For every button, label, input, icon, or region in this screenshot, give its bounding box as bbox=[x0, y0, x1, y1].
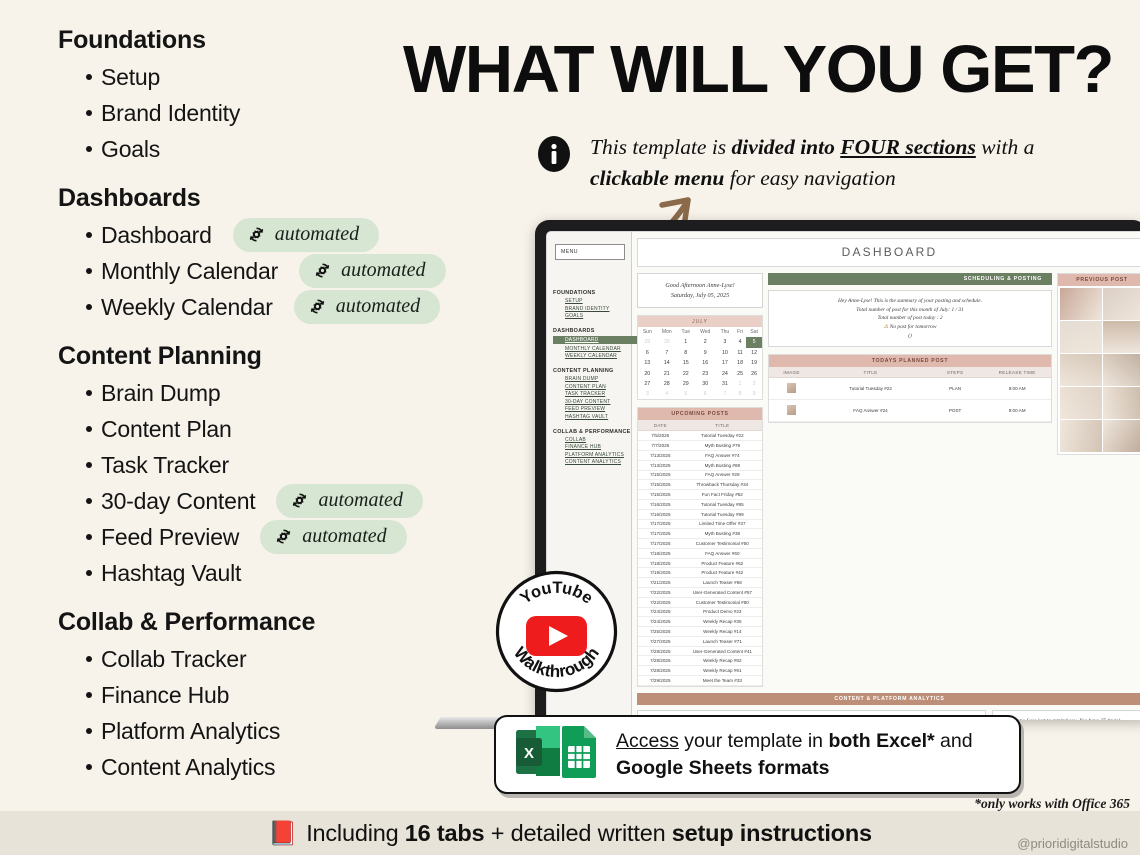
footer-text: 📕 Including 16 tabs + detailed written s… bbox=[268, 819, 872, 847]
column-header: RELEASE TIME bbox=[983, 367, 1051, 378]
calendar-day[interactable]: 31 bbox=[716, 379, 734, 389]
office-note: *only works with Office 365 bbox=[974, 796, 1130, 812]
summary-line3: Total number of post today : 2 bbox=[877, 315, 942, 321]
feature-item-label: Platform Analytics bbox=[101, 718, 280, 745]
greeting-line1: Good Afternoon Anne-Lyse! bbox=[665, 282, 734, 289]
feature-item-label: Weekly Calendar bbox=[101, 294, 273, 321]
nav-item[interactable]: TASK TRACKER bbox=[565, 391, 631, 397]
bullet-dot bbox=[86, 268, 92, 274]
scheduling-summary: Hey Anne-Lyse! This is the summary of yo… bbox=[768, 290, 1052, 347]
spreadsheet-main: DASHBOARD Good Afternoon Anne-Lyse! Satu… bbox=[632, 232, 1140, 720]
calendar-day[interactable]: 30 bbox=[657, 337, 677, 347]
calendar-day[interactable]: 12 bbox=[746, 348, 762, 358]
spreadsheet: MENU FOUNDATIONSSETUPBRAND IDENTITYGOALS… bbox=[547, 232, 1140, 720]
calendar-week: 272829303112 bbox=[638, 379, 762, 389]
table-cell: 7/15/2025 bbox=[638, 490, 683, 500]
table-row: 7/13/2025Myth Busting #89 bbox=[638, 460, 762, 470]
table-cell: Customer Testimonial #80 bbox=[683, 597, 762, 607]
feature-item: 30-day Contentautomated bbox=[86, 483, 528, 519]
table-cell: FAQ Answer #29 bbox=[683, 470, 762, 480]
nav-item[interactable]: CONTENT PLAN bbox=[565, 384, 631, 390]
feature-item: Monthly Calendarautomated bbox=[86, 253, 528, 289]
table-cell: Weekly Recap #82 bbox=[683, 656, 762, 666]
bullet-dot bbox=[86, 304, 92, 310]
footer-bold1: 16 tabs bbox=[405, 820, 485, 846]
table-cell: FAQ Answer #74 bbox=[683, 451, 762, 461]
calendar-day[interactable]: 14 bbox=[657, 358, 677, 368]
table-cell: 7/13/2025 bbox=[638, 460, 683, 470]
gear-icon bbox=[308, 297, 327, 316]
features-list: FoundationsSetupBrand IdentityGoalsDashb… bbox=[58, 26, 528, 785]
table-cell: 9:00 AM bbox=[983, 400, 1051, 422]
access-bold1: both Excel* bbox=[828, 730, 934, 752]
table-cell: 8:00 AM bbox=[983, 378, 1051, 400]
column-center: SCHEDULING & POSTING Hey Anne-Lyse! This… bbox=[768, 273, 1052, 687]
calendar-day[interactable]: 4 bbox=[657, 389, 677, 399]
footer-pre: Including bbox=[306, 820, 405, 846]
table-cell: Tutorial Tuesday #99 bbox=[683, 509, 762, 519]
table-row: 7/15/2025Throwback Thursday #34 bbox=[638, 480, 762, 490]
table-cell: 7/13/2025 bbox=[638, 451, 683, 461]
table-cell: Launch Teaser #71 bbox=[683, 636, 762, 646]
upcoming-posts-table: UPCOMING POSTS DATETITLE7/5/2025Tutorial… bbox=[637, 407, 763, 686]
analytics-section-title: CONTENT & PLATFORM ANALYTICS bbox=[637, 693, 1140, 705]
footer-mid: + detailed written bbox=[484, 820, 671, 846]
warning-icon: ⚠ bbox=[884, 324, 889, 330]
table-row: 7/18/2025FAQ Answer #60 bbox=[638, 548, 762, 558]
calendar-day[interactable]: 5 bbox=[746, 337, 762, 347]
info-note: This template is divided into FOUR secti… bbox=[534, 132, 1134, 193]
column-left: Good Afternoon Anne-Lyse! Saturday, July… bbox=[637, 273, 763, 687]
feature-group-title: Collab & Performance bbox=[58, 608, 528, 637]
gear-icon bbox=[290, 491, 309, 510]
footer-bold2: setup instructions bbox=[672, 820, 872, 846]
automated-badge: automated bbox=[233, 218, 379, 252]
table-cell: Tutorial Tuesday #22 bbox=[814, 378, 927, 400]
feature-item: Feed Previewautomated bbox=[86, 519, 528, 555]
table-row: 7/22/2025User-Generated Content #57 bbox=[638, 587, 762, 597]
calendar-day[interactable]: 24 bbox=[716, 368, 734, 378]
feature-item: Dashboardautomated bbox=[86, 217, 528, 253]
calendar-weekday: Sun bbox=[638, 327, 657, 337]
previous-post-thumbnail bbox=[1103, 354, 1140, 386]
feature-item: Goals bbox=[86, 131, 528, 167]
table-cell: Myth Busting #89 bbox=[683, 460, 762, 470]
nav-item[interactable]: CONTENT ANALYTICS bbox=[565, 459, 631, 465]
nav-item[interactable]: 30-DAY CONTENT bbox=[565, 399, 631, 405]
table-cell: Throwback Thursday #34 bbox=[683, 480, 762, 490]
nav-section-header: COLLAB & PERFORMANCE bbox=[553, 429, 631, 435]
table-cell: 7/5/2025 bbox=[638, 431, 683, 441]
feature-item-label: Monthly Calendar bbox=[101, 258, 278, 285]
calendar-day[interactable]: 29 bbox=[677, 379, 695, 389]
previous-posts-panel: PREVIOUS POST bbox=[1057, 273, 1140, 455]
nav-item[interactable]: BRAND IDENTITY bbox=[565, 306, 631, 312]
access-rest: your template in bbox=[679, 730, 829, 752]
feature-item: Collab Tracker bbox=[86, 641, 528, 677]
feature-item-label: Content Analytics bbox=[101, 754, 275, 781]
table-cell: 7/25/2025 bbox=[638, 627, 683, 637]
studio-handle: @prioridigitalstudio bbox=[1017, 836, 1128, 851]
calendar-day[interactable]: 11 bbox=[734, 348, 746, 358]
table-row: 7/15/2025Fun Fact Friday #52 bbox=[638, 490, 762, 500]
table-cell: FAQ Answer #24 bbox=[814, 400, 927, 422]
table-cell: 7/7/2025 bbox=[638, 441, 683, 451]
table-row: 7/19/2025Product Feature #42 bbox=[638, 568, 762, 578]
scheduling-section-title: SCHEDULING & POSTING bbox=[768, 273, 1052, 285]
automated-badge-label: automated bbox=[336, 295, 420, 318]
automated-badge-label: automated bbox=[302, 525, 386, 548]
table-row: 7/29/2025Meet the Team #33 bbox=[638, 676, 762, 686]
table-row: 7/28/2025Weekly Recap #91 bbox=[638, 666, 762, 676]
table-row: 7/17/2025Limited Time Offer #37 bbox=[638, 519, 762, 529]
table-cell: 7/17/2025 bbox=[638, 519, 683, 529]
table-cell: Product Feature #42 bbox=[683, 568, 762, 578]
feature-item-label: Brand Identity bbox=[101, 100, 240, 127]
calendar-day[interactable]: 6 bbox=[695, 389, 716, 399]
feature-item: Finance Hub bbox=[86, 677, 528, 713]
feature-group: DashboardsDashboardautomatedMonthly Cale… bbox=[58, 184, 528, 325]
calendar-day[interactable]: 6 bbox=[638, 348, 657, 358]
calendar-day[interactable]: 28 bbox=[657, 379, 677, 389]
calendar-day[interactable]: 1 bbox=[734, 379, 746, 389]
calendar-weekday: Mon bbox=[657, 327, 677, 337]
greeting-line2: Saturday, July 05, 2025 bbox=[671, 292, 729, 299]
calendar-day[interactable]: 8 bbox=[677, 348, 695, 358]
table-cell: 7/16/2025 bbox=[638, 509, 683, 519]
table-row: 7/24/2025Weekly Recap #35 bbox=[638, 617, 762, 627]
column-header: TITLE bbox=[683, 420, 762, 431]
table-row: 7/16/2025Tutorial Tuesday #99 bbox=[638, 509, 762, 519]
feature-item-label: Feed Preview bbox=[101, 524, 239, 551]
calendar-day[interactable]: 13 bbox=[638, 358, 657, 368]
table-cell bbox=[769, 400, 814, 422]
previous-posts-title: PREVIOUS POST bbox=[1058, 274, 1140, 286]
table-cell: 7/21/2025 bbox=[638, 578, 683, 588]
feature-item-label: Finance Hub bbox=[101, 682, 229, 709]
calendar-weekday: Tue bbox=[677, 327, 695, 337]
page-title: WHAT WILL YOU GET? bbox=[384, 36, 1132, 103]
calendar-weekday: Fri bbox=[734, 327, 746, 337]
calendar-day[interactable]: 19 bbox=[746, 358, 762, 368]
bullet-dot bbox=[86, 110, 92, 116]
table-cell: 7/19/2025 bbox=[638, 568, 683, 578]
automated-badge: automated bbox=[260, 520, 406, 554]
table-cell: 7/28/2025 bbox=[638, 646, 683, 656]
table-cell: Tutorial Tuesday #85 bbox=[683, 499, 762, 509]
calendar-day[interactable]: 20 bbox=[638, 368, 657, 378]
table-cell: Weekly Recap #35 bbox=[683, 617, 762, 627]
feature-item-label: Brain Dump bbox=[101, 380, 220, 407]
nav-item[interactable]: HASHTAG VAULT bbox=[565, 414, 631, 420]
previous-post-thumbnail bbox=[1060, 420, 1102, 452]
calendar-day[interactable]: 8 bbox=[734, 389, 746, 399]
calendar-day[interactable]: 16 bbox=[695, 358, 716, 368]
excel-sheets-icons: X bbox=[514, 724, 600, 785]
feature-item-label: Setup bbox=[101, 64, 160, 91]
calendar-day[interactable]: 2 bbox=[695, 337, 716, 347]
calendar-day[interactable]: 2 bbox=[746, 379, 762, 389]
laptop-screen: MENU FOUNDATIONSSETUPBRAND IDENTITYGOALS… bbox=[546, 231, 1140, 720]
feature-item-label: 30-day Content bbox=[101, 488, 255, 515]
laptop-lid: MENU FOUNDATIONSSETUPBRAND IDENTITYGOALS… bbox=[535, 220, 1140, 720]
nav-item[interactable]: PLATFORM ANALYTICS bbox=[565, 452, 631, 458]
calendar-day[interactable]: 23 bbox=[695, 368, 716, 378]
gear-icon bbox=[247, 225, 266, 244]
calendar-week: 6789101112 bbox=[638, 348, 762, 358]
youtube-walkthrough-badge[interactable]: YouTube Walkthrough bbox=[493, 568, 620, 695]
calendar-day[interactable]: 21 bbox=[657, 368, 677, 378]
feature-item: Weekly Calendarautomated bbox=[86, 289, 528, 325]
feature-item: Hashtag Vault bbox=[86, 555, 528, 591]
feature-item-label: Task Tracker bbox=[101, 452, 229, 479]
calendar-day[interactable]: 10 bbox=[716, 348, 734, 358]
previous-post-thumbnail bbox=[1060, 387, 1102, 419]
access-text: Access your template in both Excel* and … bbox=[616, 728, 973, 781]
table-row: 7/17/2025Myth Busting #38 bbox=[638, 529, 762, 539]
previous-posts-grid bbox=[1058, 286, 1140, 454]
bullet-dot bbox=[86, 534, 92, 540]
table-row: 7/27/2025Launch Teaser #71 bbox=[638, 636, 762, 646]
thumbnail-image bbox=[787, 405, 796, 415]
automated-badge-label: automated bbox=[275, 223, 359, 246]
feature-group: Collab & PerformanceCollab TrackerFinanc… bbox=[58, 608, 528, 785]
info-circle-icon bbox=[534, 134, 574, 174]
previous-post-thumbnail bbox=[1103, 420, 1140, 452]
info-line1-b: divided into bbox=[732, 135, 841, 159]
previous-post-thumbnail bbox=[1060, 321, 1102, 353]
calendar-day[interactable]: 5 bbox=[677, 389, 695, 399]
calendar-day[interactable]: 9 bbox=[746, 389, 762, 399]
calendar-week: 13141516171819 bbox=[638, 358, 762, 368]
table-cell: User-Generated Content #41 bbox=[683, 646, 762, 656]
table-cell: Myth Busting #79 bbox=[683, 441, 762, 451]
greeting-box: Good Afternoon Anne-Lyse! Saturday, July… bbox=[637, 273, 763, 308]
table-cell: 7/24/2025 bbox=[638, 607, 683, 617]
calendar-day[interactable]: 7 bbox=[716, 389, 734, 399]
calendar-day[interactable]: 17 bbox=[716, 358, 734, 368]
table-row: 7/28/2025Weekly Recap #82 bbox=[638, 656, 762, 666]
table-cell: 7/15/2025 bbox=[638, 470, 683, 480]
bullet-dot bbox=[86, 498, 92, 504]
table-row: 7/18/2025Product Feature #62 bbox=[638, 558, 762, 568]
info-line1-a: This template is bbox=[590, 135, 732, 159]
table-cell: 7/22/2025 bbox=[638, 597, 683, 607]
automated-badge: automated bbox=[294, 290, 440, 324]
calendar-weekday: Sat bbox=[746, 327, 762, 337]
access-callout: X Access your template in both Excel* an… bbox=[494, 715, 1021, 794]
nav-item[interactable]: DASHBOARD bbox=[553, 336, 639, 344]
automated-badge-label: automated bbox=[318, 489, 402, 512]
info-line1-c: FOUR sections bbox=[840, 135, 976, 159]
table-cell: Myth Busting #38 bbox=[683, 529, 762, 539]
reminder-line1: Anne-Lyse just to remind you. You have 2… bbox=[1014, 718, 1121, 720]
nav-item[interactable]: MONTHLY CALENDAR bbox=[565, 346, 631, 352]
table-cell: 7/18/2025 bbox=[638, 558, 683, 568]
bullet-dot bbox=[86, 462, 92, 468]
nav-section-header: DASHBOARDS bbox=[553, 328, 631, 334]
table-cell: 7/15/2025 bbox=[638, 480, 683, 490]
table-cell: Fun Fact Friday #52 bbox=[683, 490, 762, 500]
calendar-weekday: Thu bbox=[716, 327, 734, 337]
feature-group: Content PlanningBrain DumpContent PlanTa… bbox=[58, 342, 528, 591]
bullet-dot bbox=[86, 570, 92, 576]
table-cell: User-Generated Content #57 bbox=[683, 587, 762, 597]
table-cell: Product Feature #62 bbox=[683, 558, 762, 568]
month-calendar: JULY SunMonTueWedThuFriSat 2930123456789… bbox=[637, 315, 763, 400]
calendar-day[interactable]: 27 bbox=[638, 379, 657, 389]
feature-item-label: Goals bbox=[101, 136, 160, 163]
info-line1-d: with a bbox=[976, 135, 1035, 159]
feature-item-label: Content Plan bbox=[101, 416, 232, 443]
table-row: 7/25/2025Weekly Recap #14 bbox=[638, 627, 762, 637]
table-cell: FAQ Answer #60 bbox=[683, 548, 762, 558]
calendar-weekday: Wed bbox=[695, 327, 716, 337]
automated-badge: automated bbox=[299, 254, 445, 288]
info-note-text: This template is divided into FOUR secti… bbox=[590, 132, 1034, 193]
automated-badge: automated bbox=[276, 484, 422, 518]
gear-icon bbox=[313, 261, 332, 280]
table-cell: Customer Testimonial #50 bbox=[683, 539, 762, 549]
upcoming-posts-title: UPCOMING POSTS bbox=[638, 408, 762, 420]
thumbnail-image bbox=[787, 383, 796, 393]
table-cell: 7/28/2025 bbox=[638, 666, 683, 676]
summary-line1: Hey Anne-Lyse! This is the summary of yo… bbox=[838, 298, 982, 304]
calendar-month-label: JULY bbox=[638, 316, 762, 327]
previous-post-thumbnail bbox=[1060, 354, 1102, 386]
table-cell: POST bbox=[927, 400, 983, 422]
access-line2: Google Sheets formats bbox=[616, 757, 829, 779]
info-line2-b: for easy navigation bbox=[724, 166, 895, 190]
table-cell: 7/18/2025 bbox=[638, 548, 683, 558]
access-and: and bbox=[935, 730, 973, 752]
calendar-table: SunMonTueWedThuFriSat 293012345678910111… bbox=[638, 327, 762, 399]
table-row: 7/5/2025Tutorial Tuesday #22 bbox=[638, 431, 762, 441]
summary-line4: No post for tomorrow bbox=[890, 324, 937, 330]
calendar-day[interactable]: 30 bbox=[695, 379, 716, 389]
table-row: Tutorial Tuesday #22PLAN8:00 AM bbox=[769, 378, 1051, 400]
footer-banner: 📕 Including 16 tabs + detailed written s… bbox=[0, 811, 1140, 855]
calendar-day[interactable]: 22 bbox=[677, 368, 695, 378]
table-row: 7/21/2025Launch Teaser #68 bbox=[638, 578, 762, 588]
svg-text:X: X bbox=[524, 745, 534, 762]
calendar-day[interactable]: 26 bbox=[746, 368, 762, 378]
previous-post-thumbnail bbox=[1103, 288, 1140, 320]
feature-item: Task Tracker bbox=[86, 447, 528, 483]
table-cell: Weekly Recap #91 bbox=[683, 666, 762, 676]
nav-item[interactable]: GOALS bbox=[565, 313, 631, 319]
calendar-day[interactable]: 29 bbox=[638, 337, 657, 347]
calendar-week: 3456789 bbox=[638, 389, 762, 399]
notebook-icon: 📕 bbox=[268, 819, 297, 847]
table-row: FAQ Answer #24POST9:00 AM bbox=[769, 400, 1051, 422]
nav-section-header: CONTENT PLANNING bbox=[553, 368, 631, 374]
feature-item-label: Hashtag Vault bbox=[101, 560, 241, 587]
feature-item: Content Plan bbox=[86, 411, 528, 447]
table-cell: 7/24/2025 bbox=[638, 617, 683, 627]
table-row: 7/28/2025User-Generated Content #41 bbox=[638, 646, 762, 656]
nav-item[interactable]: SETUP bbox=[565, 298, 631, 304]
table-cell: 7/29/2025 bbox=[638, 676, 683, 686]
nav-item[interactable]: COLLAB bbox=[565, 437, 631, 443]
nav-item[interactable]: BRAIN DUMP bbox=[565, 376, 631, 382]
table-row: 7/15/2025FAQ Answer #29 bbox=[638, 470, 762, 480]
bullet-dot bbox=[86, 232, 92, 238]
todays-post-title: TODAYS PLANNED POST bbox=[769, 355, 1051, 367]
column-header: STEPS bbox=[927, 367, 983, 378]
summary-line5: () bbox=[908, 333, 912, 339]
feature-item-label: Dashboard bbox=[101, 222, 212, 249]
calendar-day[interactable]: 3 bbox=[638, 389, 657, 399]
table-cell: 7/28/2025 bbox=[638, 656, 683, 666]
calendar-day[interactable]: 7 bbox=[657, 348, 677, 358]
calendar-day[interactable]: 9 bbox=[695, 348, 716, 358]
calendar-day[interactable]: 1 bbox=[677, 337, 695, 347]
bullet-dot bbox=[86, 426, 92, 432]
bullet-dot bbox=[86, 728, 92, 734]
calendar-week: 20212223242526 bbox=[638, 368, 762, 378]
bullet-dot bbox=[86, 146, 92, 152]
calendar-day[interactable]: 3 bbox=[716, 337, 734, 347]
table-row: 7/13/2025FAQ Answer #74 bbox=[638, 451, 762, 461]
gear-icon bbox=[274, 527, 293, 546]
automated-badge-label: automated bbox=[341, 259, 425, 282]
feature-group-title: Content Planning bbox=[58, 342, 528, 371]
table-row: 7/16/2025Tutorial Tuesday #85 bbox=[638, 499, 762, 509]
summary-line2: Total number of post for this month of J… bbox=[856, 307, 963, 313]
table-row: 7/22/2025Customer Testimonial #80 bbox=[638, 597, 762, 607]
todays-planned-post-table: TODAYS PLANNED POST IMAGETITLESTEPSRELEA… bbox=[768, 354, 1052, 423]
table-row: 7/24/2025Product Demo #23 bbox=[638, 607, 762, 617]
table-cell bbox=[769, 378, 814, 400]
table-cell: 7/22/2025 bbox=[638, 587, 683, 597]
table-cell: Limited Time Offer #37 bbox=[683, 519, 762, 529]
calendar-day[interactable]: 18 bbox=[734, 358, 746, 368]
feature-item: Content Analytics bbox=[86, 749, 528, 785]
calendar-day[interactable]: 15 bbox=[677, 358, 695, 368]
table-cell: 7/17/2025 bbox=[638, 529, 683, 539]
bullet-dot bbox=[86, 390, 92, 396]
calendar-day[interactable]: 25 bbox=[734, 368, 746, 378]
nav-item[interactable]: FEED PREVIEW bbox=[565, 406, 631, 412]
table-cell: Product Demo #23 bbox=[683, 607, 762, 617]
column-header: TITLE bbox=[814, 367, 927, 378]
previous-post-thumbnail bbox=[1060, 288, 1102, 320]
table-row: 7/7/2025Myth Busting #79 bbox=[638, 441, 762, 451]
bullet-dot bbox=[86, 764, 92, 770]
table-row: 7/17/2025Customer Testimonial #50 bbox=[638, 539, 762, 549]
calendar-day[interactable]: 4 bbox=[734, 337, 746, 347]
table-cell: Meet the Team #33 bbox=[683, 676, 762, 686]
table-cell: 7/17/2025 bbox=[638, 539, 683, 549]
poster-canvas: FoundationsSetupBrand IdentityGoalsDashb… bbox=[0, 0, 1140, 855]
access-underlined: Access bbox=[616, 730, 679, 752]
bullet-dot bbox=[86, 656, 92, 662]
menu-label[interactable]: MENU bbox=[555, 244, 625, 260]
table-cell: Weekly Recap #14 bbox=[683, 627, 762, 637]
table-cell: 7/16/2025 bbox=[638, 499, 683, 509]
nav-item[interactable]: FINANCE HUB bbox=[565, 444, 631, 450]
nav-section-header: FOUNDATIONS bbox=[553, 290, 631, 296]
table-cell: 7/27/2025 bbox=[638, 636, 683, 646]
feature-item: Brain Dump bbox=[86, 375, 528, 411]
column-right: PREVIOUS POST bbox=[1057, 273, 1140, 687]
feature-item-label: Collab Tracker bbox=[101, 646, 246, 673]
column-header: IMAGE bbox=[769, 367, 814, 378]
bullet-dot bbox=[86, 74, 92, 80]
nav-item[interactable]: WEEKLY CALENDAR bbox=[565, 353, 631, 359]
dashboard-title: DASHBOARD bbox=[637, 238, 1140, 267]
